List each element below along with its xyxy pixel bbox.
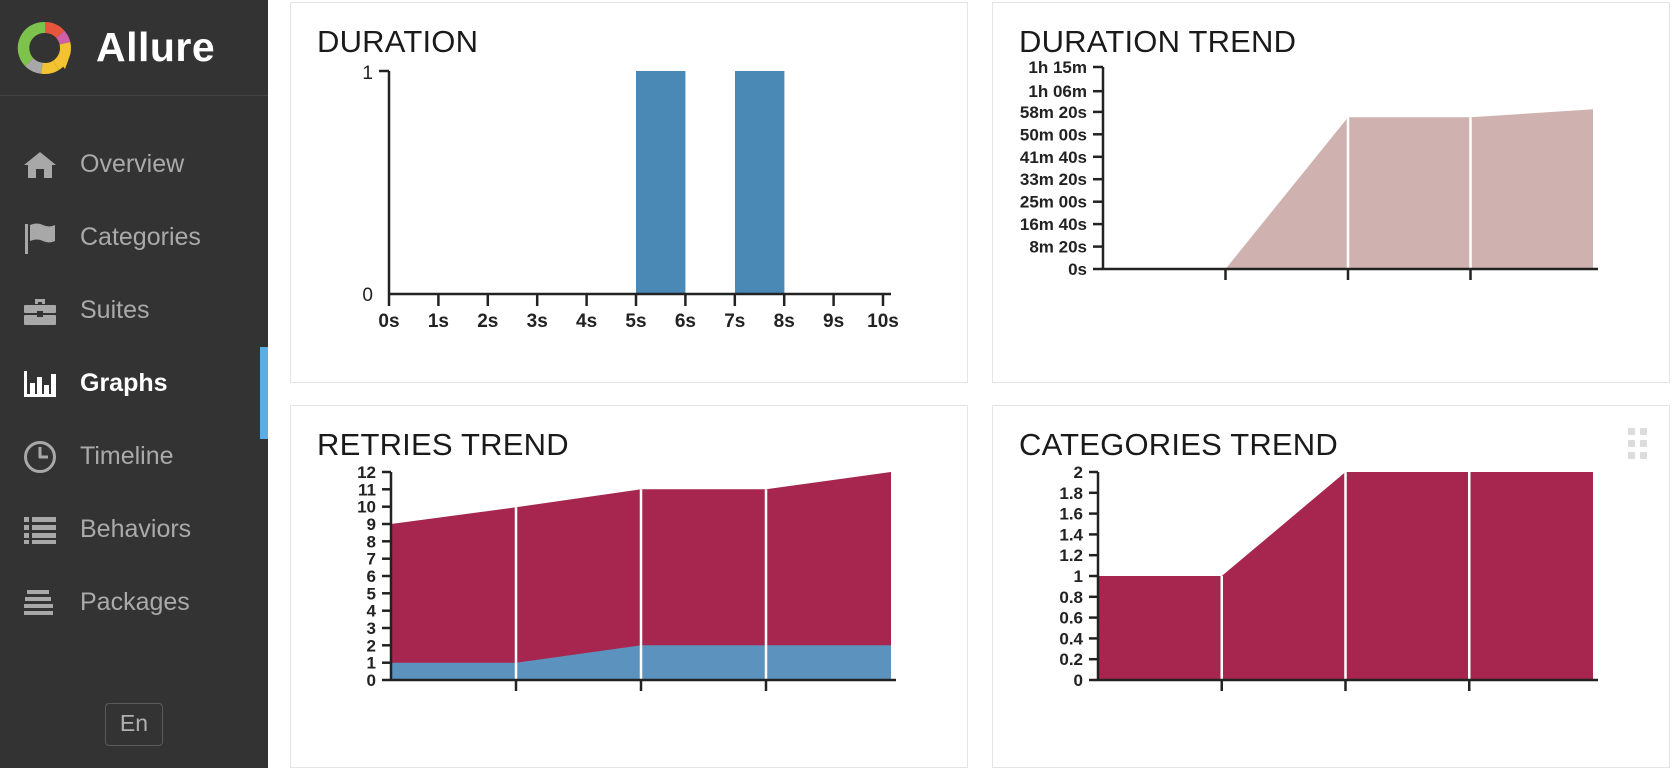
xtick-label: 10s [867, 311, 899, 332]
sidebar-item-overview[interactable]: Overview [0, 128, 268, 201]
clock-icon [14, 437, 66, 477]
ytick-label: 1h 15m [1028, 59, 1087, 77]
xtick-label: 9s [823, 311, 844, 332]
ytick-label: 1.4 [1059, 525, 1083, 544]
ytick-label: 12 [357, 463, 376, 482]
ytick-label: 8 [367, 532, 376, 551]
drag-dot [1628, 428, 1635, 435]
drag-dot [1640, 452, 1647, 459]
ytick-label: 9 [367, 515, 376, 534]
ytick-label: 10 [357, 498, 376, 517]
sidebar-item-label: Graphs [80, 371, 168, 396]
ytick-label: 0 [367, 671, 376, 690]
ytick-label: 0s [1068, 260, 1087, 279]
xtick-label: 4s [576, 311, 597, 332]
ytick-label: 5 [367, 584, 376, 603]
xtick-label: 0s [378, 311, 399, 332]
duration-trend-chart-svg: 1h 15m 1h 06m 58m 20s 50m 00s 41m 40s 33… [993, 59, 1613, 349]
drag-handle-icon[interactable] [1628, 428, 1647, 459]
ytick-label: 0 [362, 285, 373, 306]
ytick-label: 25m 00s [1020, 193, 1087, 212]
ytick-label: 7 [367, 550, 376, 569]
ytick-label: 1 [1074, 567, 1083, 586]
categories-trend-chart-plot[interactable]: 2 1.8 1.6 1.4 1.2 1 0.8 0.6 0.4 0.2 0 [993, 462, 1669, 722]
ytick-label: 1 [367, 654, 376, 673]
sidebar-item-label: Packages [80, 590, 190, 615]
ytick-label: 58m 20s [1020, 103, 1087, 122]
drag-dot [1640, 428, 1647, 435]
xtick-label: 1s [428, 311, 449, 332]
sidebar-item-label: Timeline [80, 444, 174, 469]
drag-dot [1628, 452, 1635, 459]
ytick-label: 50m 00s [1020, 125, 1087, 144]
card-categories-trend: CATEGORIES TREND [992, 405, 1670, 768]
ytick-label: 1.2 [1059, 546, 1083, 565]
duration-chart-plot[interactable]: 1 0 0s 1s 2s 3s 4s 5s 6s 7s 8s 9s 10 [291, 59, 967, 349]
ytick-label: 2 [367, 636, 376, 655]
xtick-label: 3s [527, 311, 548, 332]
xtick-label: 5s [625, 311, 646, 332]
sidebar-item-label: Behaviors [80, 517, 191, 542]
xtick-label: 2s [477, 311, 498, 332]
retries-trend-chart-title: RETRIES TREND [291, 406, 967, 462]
ytick-label: 8m 20s [1029, 238, 1087, 257]
list-icon [14, 510, 66, 550]
sidebar-item-behaviors[interactable]: Behaviors [0, 493, 268, 566]
allure-donut-logo-icon [12, 15, 78, 81]
sidebar: Allure Overview Categories [0, 0, 268, 768]
bar-chart-icon [14, 364, 66, 404]
flag-icon [14, 218, 66, 258]
ytick-label: 33m 20s [1020, 170, 1087, 189]
retries-trend-chart-svg: 12 11 10 9 8 7 6 5 4 3 2 1 0 [291, 462, 911, 722]
ytick-label: 6 [367, 567, 376, 586]
duration-trend-chart-title: DURATION TREND [993, 3, 1669, 59]
xtick-label: 8s [774, 311, 795, 332]
drag-dot [1640, 440, 1647, 447]
categories-trend-chart-svg: 2 1.8 1.6 1.4 1.2 1 0.8 0.6 0.4 0.2 0 [993, 462, 1613, 722]
sidebar-item-packages[interactable]: Packages [0, 566, 268, 639]
brand-title: Allure [96, 27, 215, 68]
sidebar-item-label: Categories [80, 225, 201, 250]
allure-report-app: Allure Overview Categories [0, 0, 1678, 768]
ytick-label: 41m 40s [1020, 148, 1087, 167]
ytick-label: 4 [367, 602, 377, 621]
card-retries-trend: RETRIES TREND [290, 405, 968, 768]
duration-chart-title: DURATION [291, 3, 967, 59]
home-icon [14, 145, 66, 185]
sidebar-item-categories[interactable]: Categories [0, 201, 268, 274]
graphs-grid: DURATION [268, 0, 1678, 768]
ytick-label: 2 [1074, 463, 1083, 482]
retries-trend-chart-plot[interactable]: 12 11 10 9 8 7 6 5 4 3 2 1 0 [291, 462, 967, 722]
ytick-label: 0 [1074, 671, 1083, 690]
card-duration-trend: DURATION TREND [992, 2, 1670, 383]
sidebar-nav: Overview Categories [0, 96, 268, 639]
ytick-label: 1 [362, 63, 373, 84]
sidebar-item-label: Suites [80, 298, 149, 323]
bar-9s-10s [735, 71, 784, 294]
categories-trend-chart-title: CATEGORIES TREND [993, 406, 1669, 462]
drag-dot [1628, 440, 1635, 447]
ytick-label: 0.2 [1059, 650, 1083, 669]
xtick-label: 6s [675, 311, 696, 332]
ytick-label: 0.8 [1059, 588, 1083, 607]
ytick-label: 3 [367, 619, 376, 638]
ytick-label: 11 [358, 480, 376, 499]
ytick-label: 0.4 [1059, 629, 1083, 648]
brand-header[interactable]: Allure [0, 0, 268, 96]
duration-trend-chart-plot[interactable]: 1h 15m 1h 06m 58m 20s 50m 00s 41m 40s 33… [993, 59, 1669, 349]
xtick-label: 7s [724, 311, 745, 332]
ytick-label: 1h 06m [1028, 82, 1087, 101]
sidebar-footer: En [0, 703, 268, 768]
sidebar-item-graphs[interactable]: Graphs [0, 347, 268, 420]
briefcase-icon [14, 291, 66, 331]
sidebar-item-timeline[interactable]: Timeline [0, 420, 268, 493]
lines-icon [14, 583, 66, 623]
ytick-label: 1.8 [1059, 484, 1083, 503]
language-selector-button[interactable]: En [105, 703, 163, 746]
ytick-label: 16m 40s [1020, 215, 1087, 234]
card-duration: DURATION [290, 2, 968, 383]
duration-chart-svg: 1 0 0s 1s 2s 3s 4s 5s 6s 7s 8s 9s 10 [291, 59, 911, 349]
ytick-label: 0.6 [1059, 609, 1083, 628]
sidebar-item-label: Overview [80, 152, 184, 177]
bar-7s-8s [636, 71, 685, 294]
sidebar-item-suites[interactable]: Suites [0, 274, 268, 347]
ytick-label: 1.6 [1059, 505, 1083, 524]
